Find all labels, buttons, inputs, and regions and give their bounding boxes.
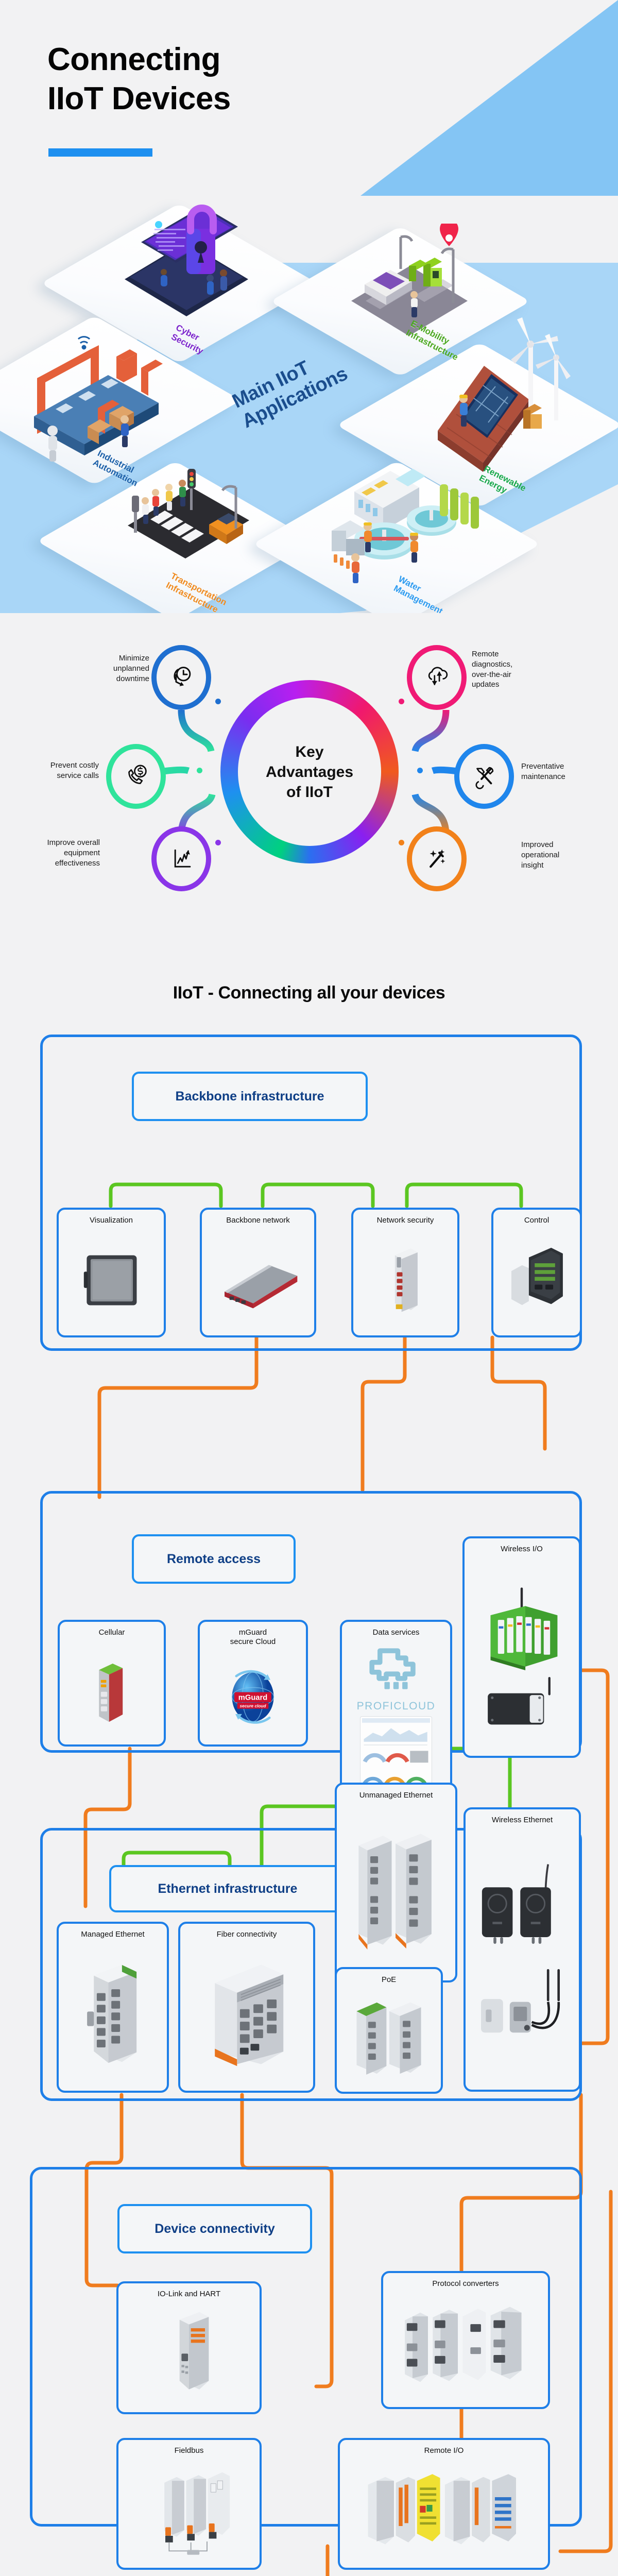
crosswalk-traffic-icon [103,438,268,592]
unmanaged-switch-icon [337,1800,455,1980]
advantage-node-minimize-downtime[interactable] [151,645,211,710]
device-card-io-link-hart[interactable]: IO-Link and HART [116,2281,262,2414]
device-card-label: IO-Link and HART [156,2290,222,2299]
advantage-node-inner [459,749,509,804]
advantage-node-prevent-service-calls[interactable] [106,744,166,809]
group-pill-device-connectivity[interactable]: Device connectivity [117,2204,312,2253]
device-card-label: Network security [375,1216,436,1225]
device-card-label: Unmanaged Ethernet [357,1791,435,1800]
device-card-label: Managed Ethernet [79,1930,146,1939]
advantage-dot [197,768,202,773]
proficloud-wordmark: PROFICLOUD [357,1700,436,1713]
mguard-globe-icon: mGuard secure cloud [200,1647,306,1744]
advantage-label-operational-insight: Improved operational insight [521,840,609,870]
advantage-node-inner [157,832,206,886]
key-advantages-ring: Key Advantages of IIoT [220,680,399,863]
location-pin [440,224,458,246]
device-card-mguard-secure-cloud[interactable]: mGuard secure Cloud mGuard secure cloud [198,1620,308,1747]
fieldbus-coupler-icon [118,2455,260,2568]
main-applications-illustration: Cyber Security [0,196,618,613]
device-card-backbone-network[interactable]: Backbone network [200,1208,316,1337]
advantage-node-inner [157,650,206,705]
title-accent-bar [48,148,152,157]
managed-switch-icon [59,1939,167,2091]
advantage-label-preventative-maintenance: Preventative maintenance [521,761,609,782]
group-pill-ethernet-infrastructure[interactable]: Ethernet infrastructure [109,1865,346,1912]
device-card-fiber-connectivity[interactable]: Fiber connectivity [178,1922,315,2093]
device-card-unmanaged-ethernet[interactable]: Unmanaged Ethernet [335,1783,457,1982]
advantage-label-minimize-downtime: Minimize unplanned downtime [72,653,149,684]
device-card-cellular[interactable]: Cellular [58,1620,166,1747]
device-card-wireless-ethernet[interactable]: Wireless Ethernet [463,1807,581,2092]
advantage-dot [399,699,404,704]
device-card-label: PoE [380,1975,398,1985]
magic-wand-icon [423,845,451,873]
device-card-protocol-converters[interactable]: Protocol converters [381,2271,550,2409]
device-card-managed-ethernet[interactable]: Managed Ethernet [57,1922,169,2093]
advantage-label-prevent-service-calls: Prevent costly service calls [11,760,99,781]
device-card-label: Fiber connectivity [215,1930,279,1939]
advantage-node-inner [412,650,461,705]
device-card-label: mGuard secure Cloud [228,1628,278,1647]
advantage-node-preventative-maintenance[interactable] [454,744,514,809]
ring-title: Key Advantages of IIoT [266,742,353,802]
group-pill-remote-access[interactable]: Remote access [132,1534,296,1584]
page-title-line-1: Connecting [47,40,231,79]
page-title: Connecting IIoT Devices [47,40,231,118]
plc-controller-icon [493,1225,580,1335]
advantage-dot [417,768,423,773]
advantage-node-improve-oee[interactable] [151,826,211,891]
advantage-node-remote-diagnostics[interactable] [407,645,467,710]
device-card-label: Backbone network [224,1216,291,1225]
device-card-label: Control [522,1216,551,1225]
device-card-label: Wireless Ethernet [490,1816,555,1825]
svg-text:mGuard: mGuard [238,1693,267,1702]
advantage-dot [399,840,404,845]
clock-arrow-down-icon [167,664,195,691]
device-card-fieldbus[interactable]: Fieldbus [116,2438,262,2570]
wrench-screwdriver-icon [470,762,498,790]
advantage-dot [215,840,221,845]
phone-dollar-icon [122,762,150,790]
device-card-label: Remote I/O [422,2446,466,2455]
wifi-signal [78,337,90,349]
advantage-dot [215,699,221,704]
cellular-router-icon [60,1637,164,1744]
pump-skid [332,520,365,569]
advantage-label-remote-diagnostics: Remote diagnostics, over-the-air updates [472,649,562,690]
device-card-label: Fieldbus [173,2446,206,2455]
device-card-remote-io[interactable]: Remote I/O [338,2438,550,2570]
device-card-label: Cellular [97,1628,127,1637]
group-pill-backbone-infrastructure[interactable]: Backbone infrastructure [132,1072,368,1121]
key-advantages-section: Key Advantages of IIoT Minimize unplanne… [0,613,618,927]
firewall-module-icon [353,1225,457,1335]
wireless-access-point-icon [466,1825,579,2090]
cloud-sync-icon [423,664,451,691]
remote-io-rack-icon [340,2455,548,2568]
device-card-visualization[interactable]: Visualization [57,1208,166,1337]
device-card-label: Wireless I/O [499,1545,545,1554]
poe-switch-icon [337,1985,441,2092]
device-card-label: Data services [371,1628,422,1637]
device-card-label: Visualization [88,1216,135,1225]
header-banner: Connecting IIoT Devices [0,0,618,196]
hmi-panel-icon [59,1225,164,1335]
iiot-connectivity-diagram: IIoT - Connecting all your devices [0,927,618,2576]
fiber-switch-icon [180,1939,313,2091]
device-card-wireless-io[interactable]: Wireless I/O [462,1536,581,1758]
page-title-line-2: IIoT Devices [47,79,231,118]
ring-inner: Key Advantages of IIoT [238,698,381,846]
io-link-module-icon [118,2299,260,2412]
device-card-control[interactable]: Control [491,1208,582,1337]
robot-worker [47,426,58,462]
device-card-poe[interactable]: PoE [335,1967,443,2094]
svg-text:secure cloud: secure cloud [240,1704,267,1708]
wireless-io-icon [465,1554,579,1756]
advantage-node-operational-insight[interactable] [407,826,467,891]
device-card-label: Protocol converters [430,2279,501,2289]
advantage-node-inner [111,749,161,804]
advantage-label-improve-oee: Improve overall equipment effectiveness [13,838,100,868]
advantage-node-inner [412,832,461,886]
protocol-converter-icon [383,2289,548,2407]
chart-upward-icon [167,845,195,873]
rack-server-icon [202,1225,314,1335]
water-treatment-icon [322,435,487,600]
device-card-network-security[interactable]: Network security [351,1208,459,1337]
